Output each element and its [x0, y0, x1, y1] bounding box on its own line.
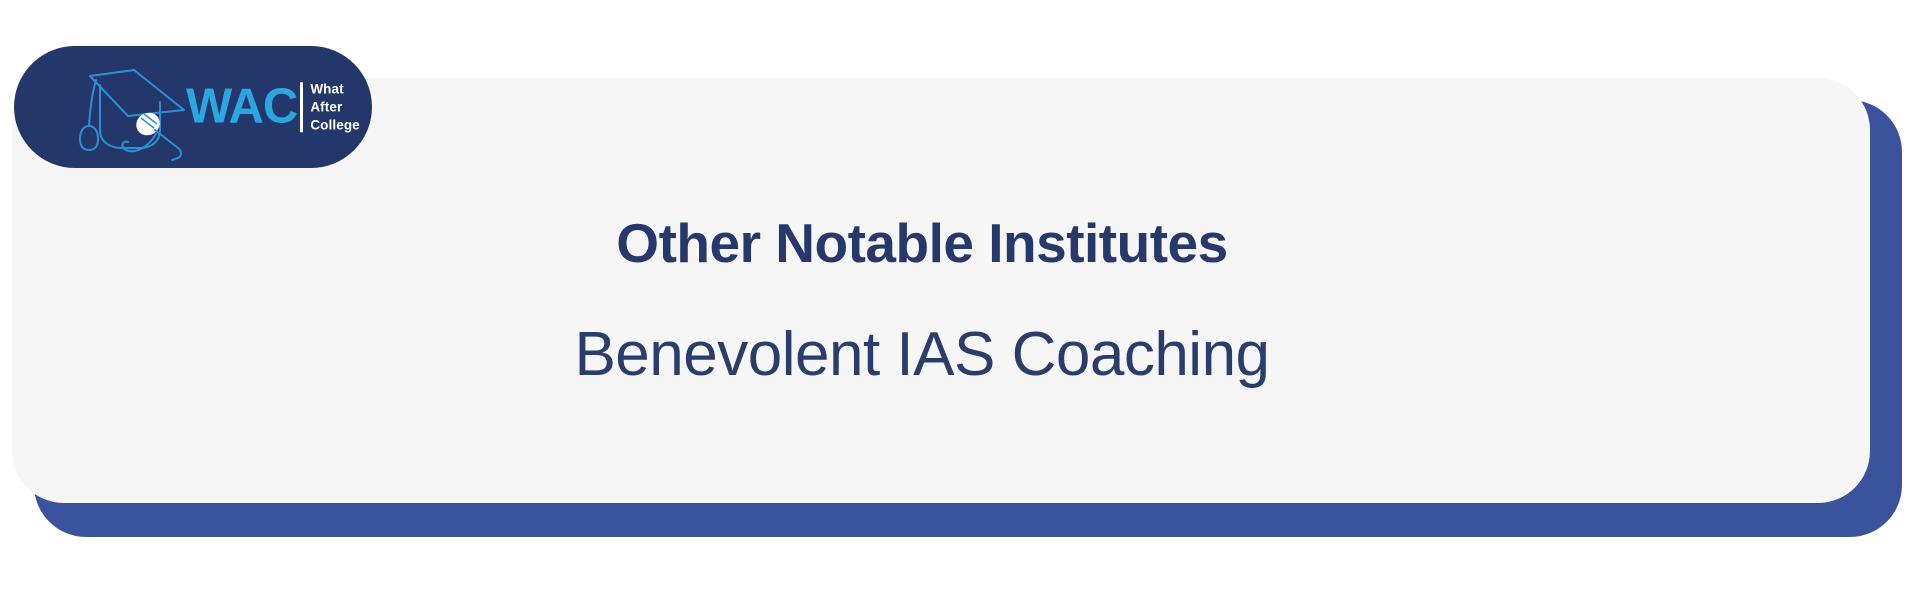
brand-wordmark: WAC What After College	[186, 80, 360, 133]
institute-name: Benevolent IAS Coaching	[212, 321, 1632, 389]
brand-badge[interactable]: WAC What After College	[14, 46, 372, 168]
tagline-line-2: After	[310, 98, 359, 116]
brand-tagline: What After College	[310, 80, 359, 133]
tagline-line-3: College	[310, 116, 359, 134]
graduation-cap-microphone-icon	[56, 54, 196, 162]
brand-acronym: WAC	[186, 83, 297, 132]
page-title: Other Notable Institutes	[212, 213, 1632, 274]
poster-canvas: Other Notable Institutes Benevolent IAS …	[0, 0, 1920, 600]
tagline-line-1: What	[310, 80, 359, 98]
wordmark-divider	[300, 82, 303, 132]
